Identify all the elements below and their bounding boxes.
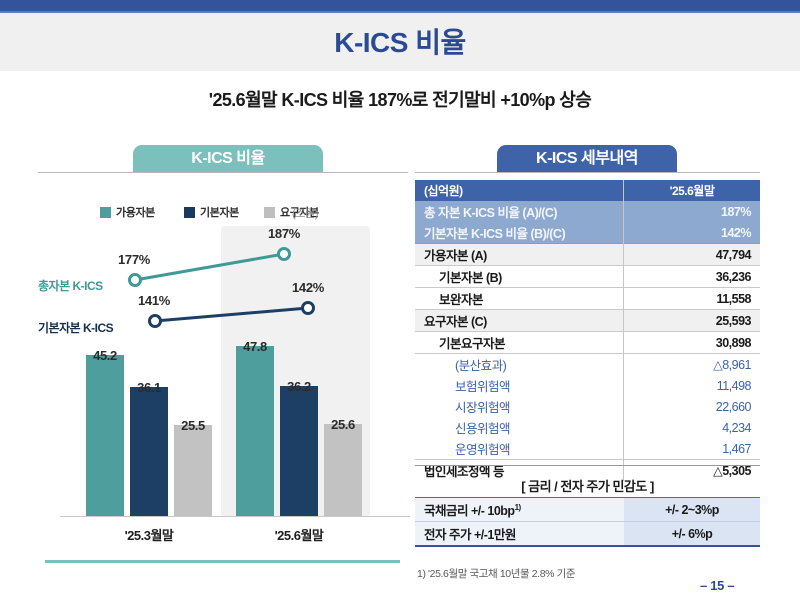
detail-table-bottom-rule xyxy=(415,465,760,466)
row-value-market-risk: 22,660 xyxy=(624,396,761,417)
table-row: 시장위험액 22,660 xyxy=(415,396,760,417)
row-value-credit-risk: 4,234 xyxy=(624,417,761,438)
table-row: 총 자본 K-ICS 비율 (A)/(C) 187% xyxy=(415,201,760,222)
row-label-rate-sensitivity: 국채금리 +/- 10bp1) xyxy=(415,498,624,522)
top-accent-bar xyxy=(0,0,800,11)
rate-sensitivity-text: 국채금리 +/- 10bp xyxy=(424,504,515,518)
row-value-tier1-capital: 36,236 xyxy=(624,266,761,288)
row-value-available-capital: 47,794 xyxy=(624,244,761,266)
footnote-marker: 1) xyxy=(515,503,521,512)
bar-value-available-jun: 47.8 xyxy=(233,339,277,354)
row-label-insurance-risk: 보험위험액 xyxy=(415,375,624,396)
bar-required-capital-mar xyxy=(174,425,212,516)
row-value-insurance-risk: 11,498 xyxy=(624,375,761,396)
row-value-operational-risk: 1,467 xyxy=(624,438,761,460)
page-number: – 15 – xyxy=(700,578,790,593)
table-row: 운영위험액 1,467 xyxy=(415,438,760,460)
table-header-unit: (십억원) xyxy=(415,180,624,201)
row-value-basic-required-capital: 30,898 xyxy=(624,332,761,354)
row-label-market-risk: 시장위험액 xyxy=(415,396,624,417)
chart-bottom-rule xyxy=(45,560,400,563)
row-label-basic-required-capital: 기본요구자본 xyxy=(415,332,624,354)
page-title: K-ICS 비율 xyxy=(0,21,800,61)
chart-section-rule xyxy=(38,172,408,173)
row-value-equity-sensitivity: +/- 6%p xyxy=(624,522,760,547)
row-label-equity-sensitivity: 전자 주가 +/-1만원 xyxy=(415,522,624,547)
footnote: 1) '25.6월말 국고채 10년물 2.8% 기준 xyxy=(417,566,575,581)
subtitle: '25.6월말 K-ICS 비율 187%로 전기말비 +10%p 상승 xyxy=(0,86,800,112)
table-row: 기본자본 K-ICS 비율 (B)/(C) 142% xyxy=(415,222,760,244)
chart-baseline xyxy=(60,516,410,517)
bar-tier1-capital-jun xyxy=(280,386,318,516)
row-value-total-ratio: 187% xyxy=(624,201,761,222)
bar-value-available-mar: 45.2 xyxy=(83,348,127,363)
row-value-required-capital: 25,593 xyxy=(624,310,761,332)
row-label-available-capital: 가용자본 (A) xyxy=(415,244,624,266)
sensitivity-title: [ 금리 / 전자 주가 민감도 ] xyxy=(415,476,760,495)
bar-available-capital-jun xyxy=(236,346,274,516)
table-row: (분산효과) △8,961 xyxy=(415,354,760,376)
table-row: 보완자본 11,558 xyxy=(415,288,760,310)
row-label-total-ratio: 총 자본 K-ICS 비율 (A)/(C) xyxy=(415,201,624,222)
bar-value-tier1-jun: 36.2 xyxy=(277,379,321,394)
row-value-supplementary-capital: 11,558 xyxy=(624,288,761,310)
row-value-tier1-ratio: 142% xyxy=(624,222,761,244)
bar-value-tier1-mar: 36.1 xyxy=(127,380,171,395)
x-axis-label-mar: '25.3월말 xyxy=(104,525,194,544)
bar-value-required-jun: 25.6 xyxy=(321,417,365,432)
table-row: 요구자본 (C) 25,593 xyxy=(415,310,760,332)
table-row: 기본자본 (B) 36,236 xyxy=(415,266,760,288)
row-label-diversification: (분산효과) xyxy=(415,354,624,376)
kics-ratio-chart: 가용자본 기본자본 요구자본 (조원) 총자본 K-ICS 기본자본 K-ICS… xyxy=(38,180,410,555)
detail-section-banner: K-ICS 세부내역 xyxy=(497,145,677,172)
row-label-operational-risk: 운영위험액 xyxy=(415,438,624,460)
kics-detail-table: (십억원) '25.6월말 총 자본 K-ICS 비율 (A)/(C) 187%… xyxy=(415,180,760,481)
table-row: 국채금리 +/- 10bp1) +/- 2~3%p xyxy=(415,498,760,522)
row-label-credit-risk: 신용위험액 xyxy=(415,417,624,438)
row-label-supplementary-capital: 보완자본 xyxy=(415,288,624,310)
table-header-period: '25.6월말 xyxy=(624,180,761,201)
row-label-tier1-ratio: 기본자본 K-ICS 비율 (B)/(C) xyxy=(415,222,624,244)
table-row: 전자 주가 +/-1만원 +/- 6%p xyxy=(415,522,760,547)
bar-available-capital-mar xyxy=(86,355,124,516)
chart-section-banner: K-ICS 비율 xyxy=(133,145,323,172)
table-header-row: (십억원) '25.6월말 xyxy=(415,180,760,201)
bar-tier1-capital-mar xyxy=(130,387,168,516)
sensitivity-table: 국채금리 +/- 10bp1) +/- 2~3%p 전자 주가 +/-1만원 +… xyxy=(415,497,760,547)
bar-group-container xyxy=(38,226,410,516)
row-value-rate-sensitivity: +/- 2~3%p xyxy=(624,498,760,522)
row-value-diversification: △8,961 xyxy=(624,354,761,376)
table-row: 기본요구자본 30,898 xyxy=(415,332,760,354)
table-row: 보험위험액 11,498 xyxy=(415,375,760,396)
row-label-tier1-capital: 기본자본 (B) xyxy=(415,266,624,288)
table-row: 신용위험액 4,234 xyxy=(415,417,760,438)
table-row: 가용자본 (A) 47,794 xyxy=(415,244,760,266)
x-axis-label-jun: '25.6월말 xyxy=(254,525,344,544)
bar-required-capital-jun xyxy=(324,424,362,516)
slide: K-ICS 비율 '25.6월말 K-ICS 비율 187%로 전기말비 +10… xyxy=(0,0,800,602)
detail-section-rule xyxy=(415,172,760,173)
row-label-required-capital: 요구자본 (C) xyxy=(415,310,624,332)
bar-value-required-mar: 25.5 xyxy=(171,418,215,433)
